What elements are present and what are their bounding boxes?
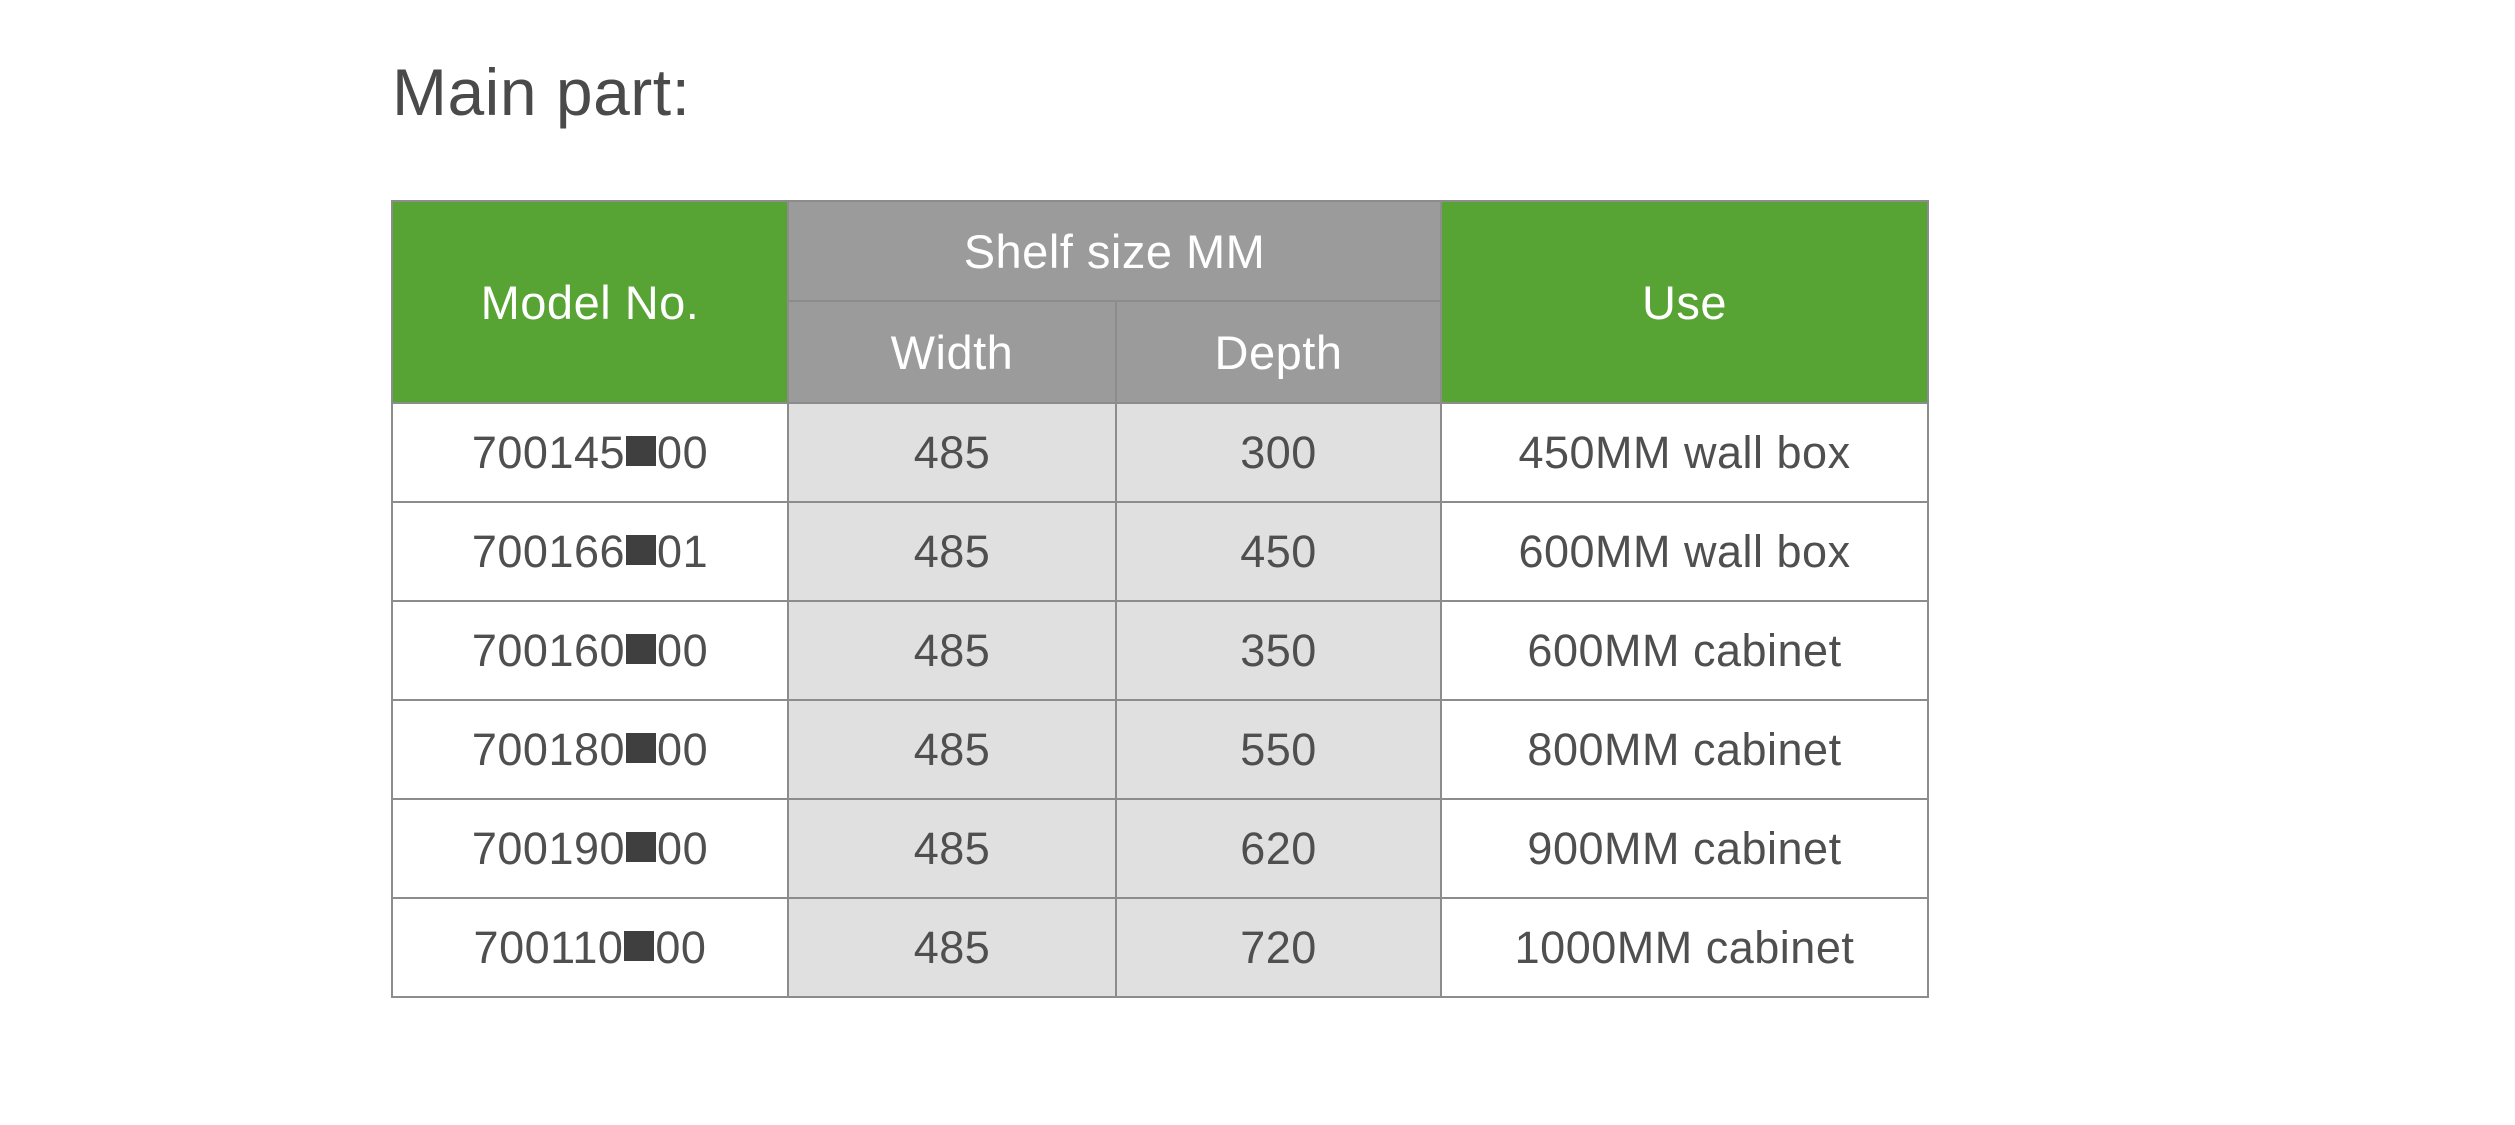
cell-shelf-width: 485 — [788, 601, 1116, 700]
cell-shelf-width: 485 — [788, 898, 1116, 997]
model-suffix: 00 — [655, 922, 706, 973]
table-head: Model No. Shelf size MM Use Width Depth — [392, 201, 1928, 403]
model-suffix: 00 — [657, 625, 708, 676]
table-header-row-top: Model No. Shelf size MM Use — [392, 201, 1928, 301]
missing-glyph-square-icon — [626, 634, 656, 664]
cell-model-no: 70019000 — [392, 799, 788, 898]
cell-shelf-depth: 350 — [1116, 601, 1441, 700]
missing-glyph-square-icon — [626, 436, 656, 466]
missing-glyph-square-icon — [626, 535, 656, 565]
column-header-shelf-size-group: Shelf size MM — [788, 201, 1441, 301]
cell-shelf-width: 485 — [788, 700, 1116, 799]
table-row: 700110004857201000MM cabinet — [392, 898, 1928, 997]
missing-glyph-square-icon — [626, 832, 656, 862]
table-row: 70016000485350600MM cabinet — [392, 601, 1928, 700]
cell-shelf-depth: 450 — [1116, 502, 1441, 601]
model-suffix: 00 — [657, 427, 708, 478]
column-header-use: Use — [1441, 201, 1928, 403]
cell-model-no: 70016000 — [392, 601, 788, 700]
cell-use: 600MM wall box — [1441, 502, 1928, 601]
cell-shelf-width: 485 — [788, 799, 1116, 898]
model-suffix: 00 — [657, 724, 708, 775]
cell-use: 800MM cabinet — [1441, 700, 1928, 799]
table-body: 70014500485300450MM wall box700166014854… — [392, 403, 1928, 997]
table-row: 70016601485450600MM wall box — [392, 502, 1928, 601]
model-suffix: 01 — [657, 526, 708, 577]
cell-model-no: 70011000 — [392, 898, 788, 997]
table-row: 70018000485550800MM cabinet — [392, 700, 1928, 799]
cell-use: 450MM wall box — [1441, 403, 1928, 502]
model-prefix: 700110 — [474, 922, 624, 973]
column-header-depth: Depth — [1116, 301, 1441, 403]
page-title: Main part: — [392, 52, 690, 132]
column-header-width: Width — [788, 301, 1116, 403]
missing-glyph-square-icon — [626, 733, 656, 763]
main-part-spec-table: Model No. Shelf size MM Use Width Depth … — [391, 200, 1929, 998]
table-row: 70019000485620900MM cabinet — [392, 799, 1928, 898]
column-header-model-no: Model No. — [392, 201, 788, 403]
model-prefix: 700190 — [472, 823, 625, 874]
cell-shelf-width: 485 — [788, 403, 1116, 502]
page-root: Main part: Model No. Shelf size MM Use W… — [0, 0, 2515, 1125]
table-row: 70014500485300450MM wall box — [392, 403, 1928, 502]
model-prefix: 700145 — [472, 427, 625, 478]
cell-model-no: 70016601 — [392, 502, 788, 601]
cell-model-no: 70018000 — [392, 700, 788, 799]
model-suffix: 00 — [657, 823, 708, 874]
cell-shelf-depth: 300 — [1116, 403, 1441, 502]
missing-glyph-square-icon — [624, 931, 654, 961]
cell-shelf-depth: 720 — [1116, 898, 1441, 997]
cell-use: 600MM cabinet — [1441, 601, 1928, 700]
cell-use: 1000MM cabinet — [1441, 898, 1928, 997]
cell-shelf-depth: 620 — [1116, 799, 1441, 898]
model-prefix: 700160 — [472, 625, 625, 676]
cell-shelf-depth: 550 — [1116, 700, 1441, 799]
cell-shelf-width: 485 — [788, 502, 1116, 601]
model-prefix: 700180 — [472, 724, 625, 775]
cell-model-no: 70014500 — [392, 403, 788, 502]
model-prefix: 700166 — [472, 526, 625, 577]
cell-use: 900MM cabinet — [1441, 799, 1928, 898]
